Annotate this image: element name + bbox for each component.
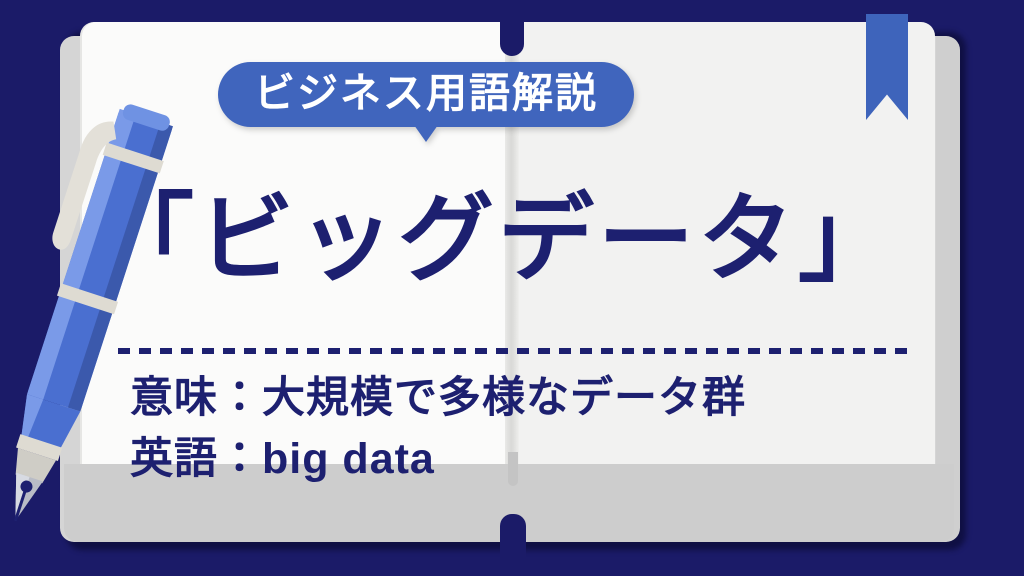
- category-badge: ビジネス用語解説: [218, 62, 634, 127]
- definition-list: 意味：大規模で多様なデータ群 英語：big data: [130, 368, 930, 490]
- definition-meaning-line: 意味：大規模で多様なデータ群: [130, 368, 930, 429]
- slide-canvas: ビジネス用語解説 「ビッグデータ」 意味：大規模で多様なデータ群 英語：big …: [0, 0, 1024, 576]
- dashed-divider: [118, 348, 908, 354]
- category-badge-pill: ビジネス用語解説: [218, 62, 634, 127]
- book-spine-dip-bottom: [500, 514, 526, 558]
- category-badge-tail: [414, 125, 438, 142]
- book-spine-notch-top: [500, 22, 524, 56]
- definition-english-line: 英語：big data: [130, 429, 930, 490]
- term-title: 「ビッグデータ」: [98, 186, 918, 294]
- category-badge-label: ビジネス用語解説: [254, 73, 598, 114]
